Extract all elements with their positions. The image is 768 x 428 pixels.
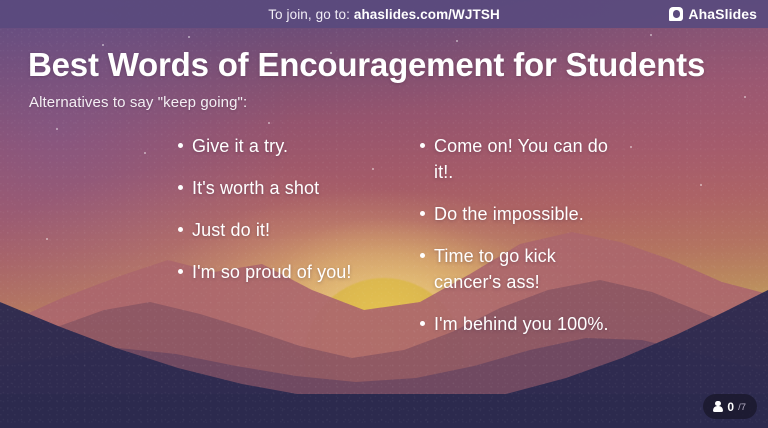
list-item: I'm so proud of you! bbox=[178, 259, 393, 285]
ahaslides-brand-name: AhaSlides bbox=[688, 6, 757, 22]
slide-content: Best Words of Encouragement for Students… bbox=[0, 28, 768, 428]
join-url-text: ahaslides.com/WJTSH bbox=[354, 7, 500, 22]
list-item: Give it a try. bbox=[178, 133, 393, 159]
ahaslides-logo-icon bbox=[669, 7, 683, 21]
list-item: Do the impossible. bbox=[420, 201, 620, 227]
participant-count: 0 bbox=[727, 401, 734, 413]
participant-counter-badge[interactable]: 0 /7 bbox=[703, 394, 757, 419]
join-prefix-label: To join, go to: bbox=[268, 7, 354, 22]
list-item: It's worth a shot bbox=[178, 175, 393, 201]
right-bullet-list: Come on! You can do it!. Do the impossib… bbox=[420, 133, 620, 337]
join-instructions-bar: To join, go to: ahaslides.com/WJTSH AhaS… bbox=[0, 0, 768, 28]
ahaslides-brand[interactable]: AhaSlides bbox=[669, 0, 757, 28]
page-subtitle: Alternatives to say "keep going": bbox=[29, 94, 247, 111]
list-item: Time to go kick cancer's ass! bbox=[420, 243, 620, 295]
list-item: Come on! You can do it!. bbox=[420, 133, 620, 185]
slide-canvas: To join, go to: ahaslides.com/WJTSH AhaS… bbox=[0, 0, 768, 428]
left-bullet-column: Give it a try. It's worth a shot Just do… bbox=[178, 133, 393, 301]
join-instruction-text: To join, go to: ahaslides.com/WJTSH bbox=[268, 7, 500, 22]
page-title: Best Words of Encouragement for Students bbox=[28, 46, 705, 84]
participant-total: /7 bbox=[738, 403, 746, 413]
list-item: I'm behind you 100%. bbox=[420, 311, 620, 337]
right-bullet-column: Come on! You can do it!. Do the impossib… bbox=[420, 133, 620, 353]
person-icon bbox=[712, 401, 723, 413]
left-bullet-list: Give it a try. It's worth a shot Just do… bbox=[178, 133, 393, 285]
list-item: Just do it! bbox=[178, 217, 393, 243]
